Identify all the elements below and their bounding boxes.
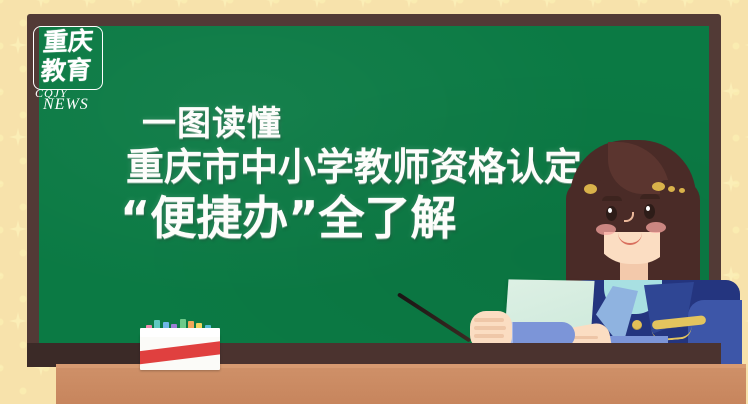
star-icon (78, 0, 96, 8)
star-icon (32, 0, 50, 8)
star-icon (400, 0, 418, 8)
star-icon (9, 128, 27, 146)
teacher-eyebrow-right (640, 194, 660, 199)
star-icon (0, 266, 4, 284)
teacher-hairpin-2 (652, 182, 665, 191)
star-icon (492, 0, 510, 8)
star-icon (0, 174, 4, 192)
chalk-box-body (140, 334, 220, 370)
star-icon (354, 0, 372, 8)
star-icon (722, 82, 740, 100)
pointer-knuckle-3 (474, 334, 504, 338)
star-icon (9, 312, 27, 330)
teacher-eye-right (644, 204, 655, 219)
chalk-box-stripe (140, 340, 220, 364)
teacher-eyebrow-left (602, 196, 622, 201)
logo-en-line2: NEWS (33, 98, 113, 111)
blackboard-ledge (56, 364, 746, 404)
teacher-blush-left (596, 224, 616, 235)
star-icon (0, 358, 4, 376)
star-icon (630, 0, 648, 8)
teacher-hairpin-4 (679, 188, 685, 193)
star-icon (584, 0, 602, 8)
teacher-blush-right (646, 222, 666, 233)
star-icon (216, 0, 234, 8)
star-icon (0, 0, 4, 8)
logo: 重庆教育 CQJY NEWS (33, 26, 111, 114)
star-icon (262, 0, 280, 8)
chalk-box-lip (140, 328, 220, 337)
logo-english: CQJY NEWS (33, 87, 113, 111)
pointer-knuckle-1 (474, 318, 504, 322)
star-icon (446, 0, 464, 8)
star-icon (676, 0, 694, 8)
star-icon (538, 0, 556, 8)
teacher-eye-left (606, 206, 617, 221)
star-icon (170, 0, 188, 8)
teacher-hairpin-1 (584, 184, 597, 194)
star-icon (722, 0, 740, 8)
chalk-box-icon (140, 318, 220, 370)
teacher-hairpin-3 (668, 186, 675, 192)
teacher-button-1 (632, 320, 642, 330)
star-icon (124, 0, 142, 8)
star-icon (9, 36, 27, 54)
logo-calligraphy: 重庆教育 (31, 25, 104, 89)
headline-line-1: 一图读懂 (142, 104, 658, 144)
star-icon (308, 0, 326, 8)
star-icon (9, 220, 27, 238)
star-icon (0, 82, 4, 100)
poster-canvas: 重庆教育 CQJY NEWS 一图读懂 重庆市中小学教师资格认定 “便捷办”全了… (0, 0, 748, 404)
pointer-knuckle-2 (474, 326, 506, 330)
